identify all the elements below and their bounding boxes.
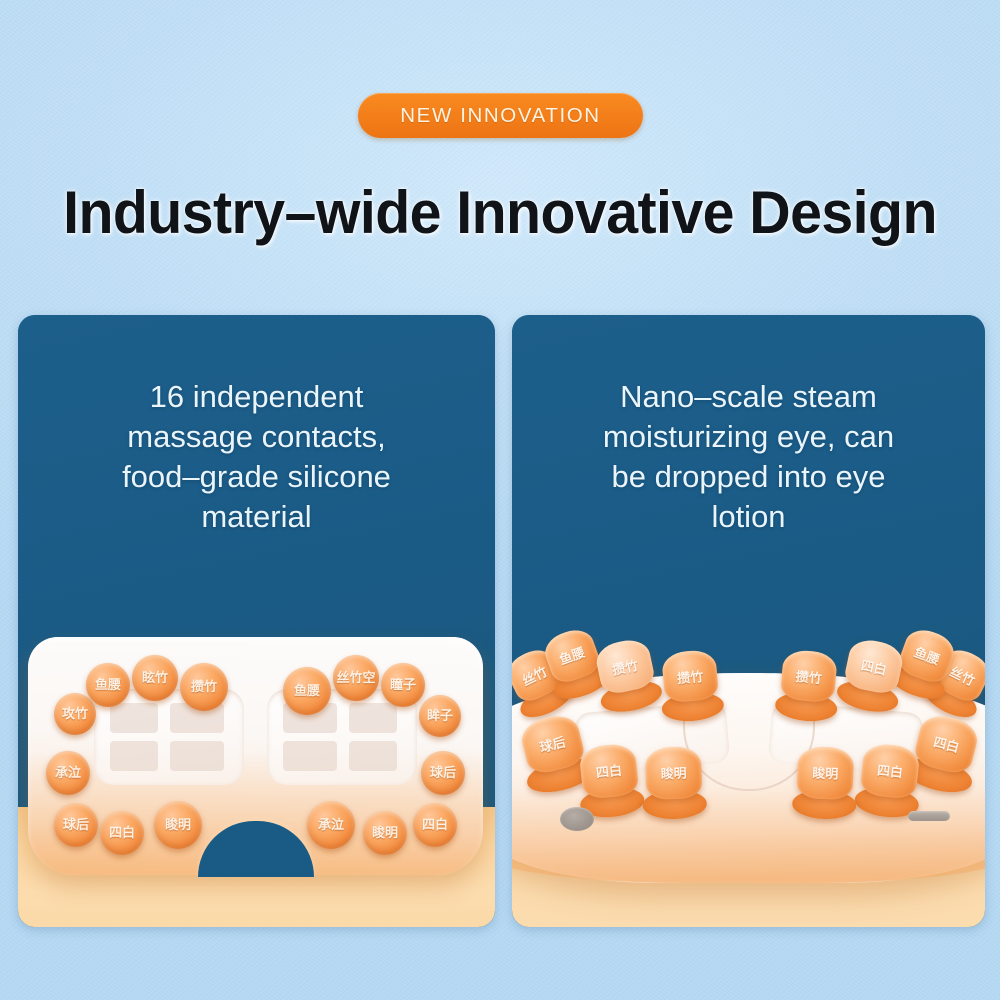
caption-line: food–grade silicone: [18, 457, 495, 497]
massage-nub: 承泣: [307, 801, 355, 849]
caption-line: massage contacts,: [18, 417, 495, 457]
power-button[interactable]: [560, 807, 594, 831]
massage-nub: 睃明: [645, 746, 703, 820]
card-caption-right: Nano–scale steam moisturizing eye, can b…: [512, 315, 985, 537]
massage-nub: 攻竹: [54, 693, 96, 735]
caption-line: be dropped into eye: [512, 457, 985, 497]
page-title: Industry–wide Innovative Design: [23, 178, 978, 247]
nose-bridge-seam: [683, 719, 815, 791]
vent-slot: [908, 811, 950, 821]
caption-line: moisturizing eye, can: [512, 417, 985, 457]
product-photo-closeup: 丝竹 鱼腰 攒竹 攒竹 球后 四白 睃明 丝竹 鱼腰 四白 攒竹: [512, 555, 985, 927]
massage-nub: 丝竹空: [333, 655, 379, 701]
new-innovation-badge: NEW INNOVATION: [358, 93, 643, 138]
massage-nub: 瞳子: [381, 663, 425, 707]
massage-nub: 攒竹: [180, 663, 228, 711]
massage-nub: 四白: [100, 811, 144, 855]
massage-nub: 四白: [413, 803, 457, 847]
caption-line: lotion: [512, 497, 985, 537]
badge-label: NEW INNOVATION: [400, 104, 600, 128]
nose-bridge-cutout: [198, 821, 314, 877]
massage-nub: 眩竹: [132, 655, 178, 701]
massage-nub: 四白: [838, 636, 905, 716]
massage-nub: 攒竹: [778, 649, 838, 723]
caption-line: Nano–scale steam: [512, 377, 985, 417]
massage-nub: 球后: [421, 751, 465, 795]
massage-nub: 眸子: [419, 695, 461, 737]
caption-line: 16 independent: [18, 377, 495, 417]
massage-nub: 鱼腰: [283, 667, 331, 715]
card-caption-left: 16 independent massage contacts, food–gr…: [18, 315, 495, 537]
feature-card-nano-steam: Nano–scale steam moisturizing eye, can b…: [512, 315, 985, 927]
massage-nub: 球后: [54, 803, 98, 847]
massage-nub: 攒竹: [593, 636, 660, 716]
feature-card-massage-contacts: 16 independent massage contacts, food–gr…: [18, 315, 495, 927]
massage-nub: 睃明: [796, 746, 854, 820]
massage-nub: 鱼腰: [86, 663, 130, 707]
eye-massager-body-front: 攻竹 鱼腰 眩竹 攒竹 承泣 球后 四白 睃明 鱼腰 丝竹空 瞳子 眸子 球后 …: [28, 637, 483, 875]
massage-nub: 攒竹: [661, 649, 721, 723]
product-photo-front: 攻竹 鱼腰 眩竹 攒竹 承泣 球后 四白 睃明 鱼腰 丝竹空 瞳子 眸子 球后 …: [18, 615, 495, 927]
caption-line: material: [18, 497, 495, 537]
massage-nub: 睃明: [363, 811, 407, 855]
massage-nub: 四白: [857, 742, 920, 819]
massage-nub: 睃明: [154, 801, 202, 849]
massage-nub: 承泣: [46, 751, 90, 795]
massage-nub: 四白: [578, 742, 641, 819]
